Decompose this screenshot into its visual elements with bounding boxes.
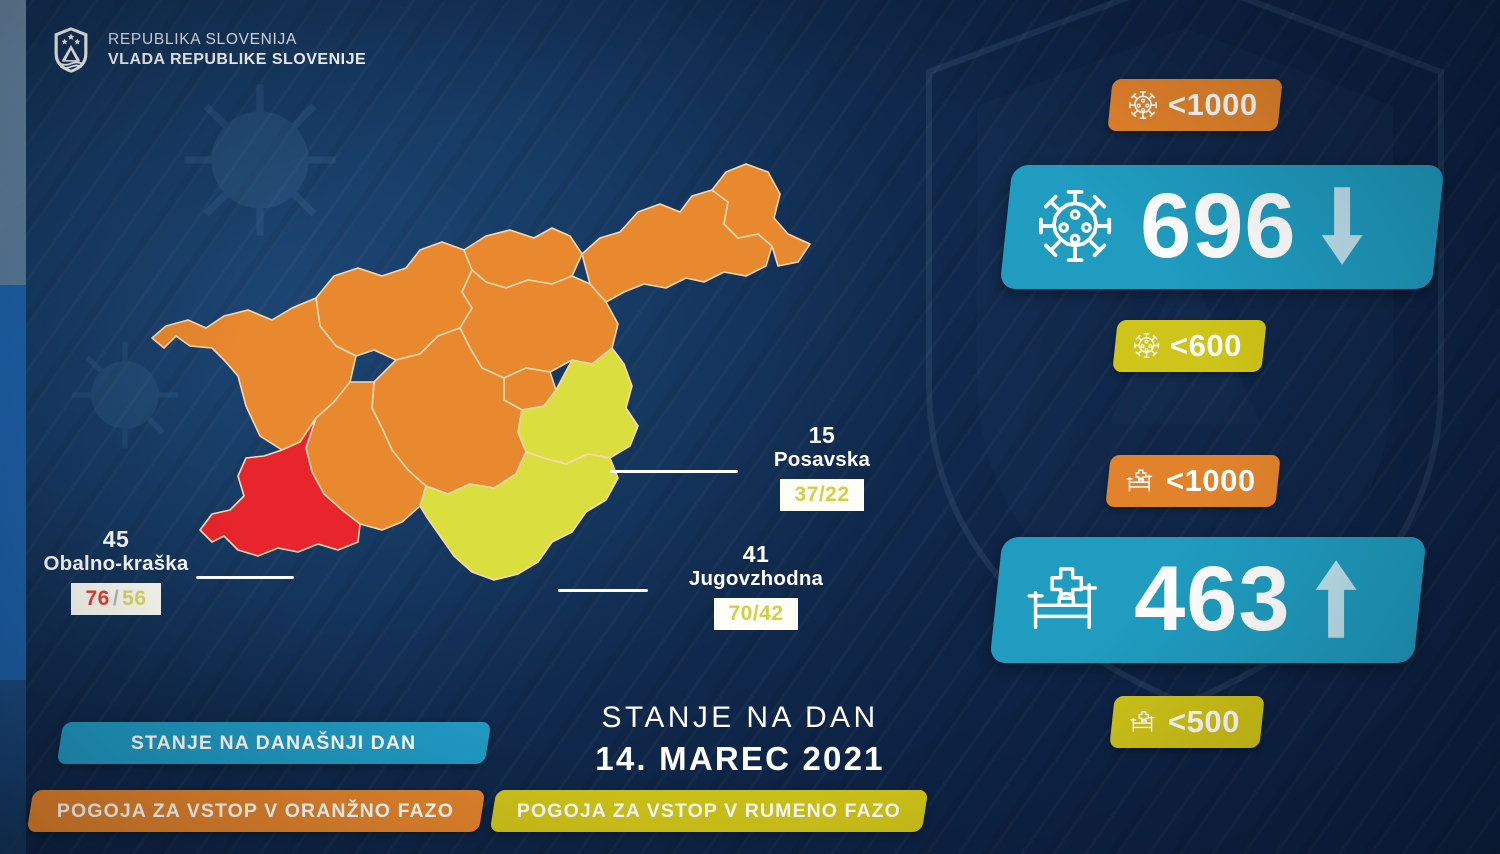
government-label: VLADA REPUBLIKE SLOVENIJE: [108, 50, 366, 70]
republic-label: REPUBLIKA SLOVENIJA: [108, 31, 366, 50]
hospital-orange-threshold-value: <1000: [1166, 465, 1256, 496]
callout-value-chip: 37/22: [780, 479, 863, 512]
callout-region-name: Posavska: [742, 449, 902, 472]
infections-orange-threshold-value: <1000: [1168, 89, 1258, 120]
callout-value-separator: /: [110, 587, 122, 610]
infections-yellow-threshold-value: <600: [1170, 330, 1242, 361]
callout-number: 45: [20, 527, 212, 551]
left-edge-strip-light: [0, 0, 26, 285]
callout-posavska[interactable]: 15 Posavska 37/22: [742, 423, 902, 511]
callout-value-second: 56: [122, 587, 146, 610]
infections-current-badge[interactable]: 696: [999, 165, 1444, 289]
left-edge-strip-dark: [0, 680, 26, 854]
legend-yellow-label: POGOJA ZA VSTOP V RUMENO FAZO: [517, 800, 901, 823]
legend-orange-phase[interactable]: POGOJA ZA VSTOP V ORANŽNO FAZO: [27, 790, 486, 832]
legend-yellow-phase[interactable]: POGOJA ZA VSTOP V RUMENO FAZO: [490, 790, 929, 832]
legend-today-label: STANJE NA DANAŠNJI DAN: [131, 732, 416, 755]
virus-icon: [1133, 332, 1160, 359]
legend-orange-label: POGOJA ZA VSTOP V ORANŽNO FAZO: [57, 800, 454, 823]
callout-value-chip: 70/42: [714, 598, 797, 631]
hospital-yellow-threshold-value: <500: [1168, 706, 1240, 737]
leader-line-posavska: [610, 470, 738, 473]
callout-obalno-kraska[interactable]: 45 Obalno-kraška 76/56: [20, 527, 212, 615]
infographic-canvas: REPUBLIKA SLOVENIJA VLADA REPUBLIKE SLOV…: [0, 0, 1500, 854]
date-block: STANJE NA DAN 14. MAREC 2021: [560, 700, 920, 778]
hospital-bed-icon: [1026, 564, 1108, 634]
callout-region-name: Jugovzhodna: [650, 568, 862, 591]
hospital-current-value: 463: [1134, 556, 1291, 642]
statistics-column: <1000 6: [1000, 0, 1500, 854]
leader-line-jugovzhodna: [558, 589, 648, 592]
callout-jugovzhodna[interactable]: 41 Jugovzhodna 70/42: [650, 542, 862, 630]
hospital-yellow-threshold-badge[interactable]: <500: [1109, 696, 1264, 748]
callout-number: 15: [742, 423, 902, 447]
callout-region-name: Obalno-kraška: [20, 553, 212, 576]
virus-icon: [1036, 187, 1114, 265]
hospital-current-badge[interactable]: 463: [989, 537, 1426, 663]
callout-number: 41: [650, 542, 862, 566]
callout-value-chip: 76/56: [71, 583, 160, 616]
infections-yellow-threshold-badge[interactable]: <600: [1112, 320, 1266, 372]
trend-down-arrow-icon: [1319, 185, 1365, 267]
hospital-bed-icon: [1126, 467, 1156, 494]
infections-orange-threshold-badge[interactable]: <1000: [1107, 79, 1282, 131]
trend-up-arrow-icon: [1313, 558, 1359, 640]
slovenia-coat-of-arms-icon: [52, 26, 90, 74]
government-header: REPUBLIKA SLOVENIJA VLADA REPUBLIKE SLOV…: [52, 26, 366, 74]
hospital-bed-icon: [1130, 709, 1158, 734]
infections-current-value: 696: [1140, 183, 1297, 269]
callout-value-first: 76: [85, 587, 109, 610]
hospital-orange-threshold-badge[interactable]: <1000: [1105, 455, 1280, 507]
virus-icon: [1128, 90, 1158, 120]
left-edge-strip-blue: [0, 285, 26, 680]
legend-today-status[interactable]: STANJE NA DANAŠNJI DAN: [57, 722, 492, 764]
date-label: STANJE NA DAN: [560, 700, 920, 737]
date-value: 14. MAREC 2021: [560, 739, 920, 779]
